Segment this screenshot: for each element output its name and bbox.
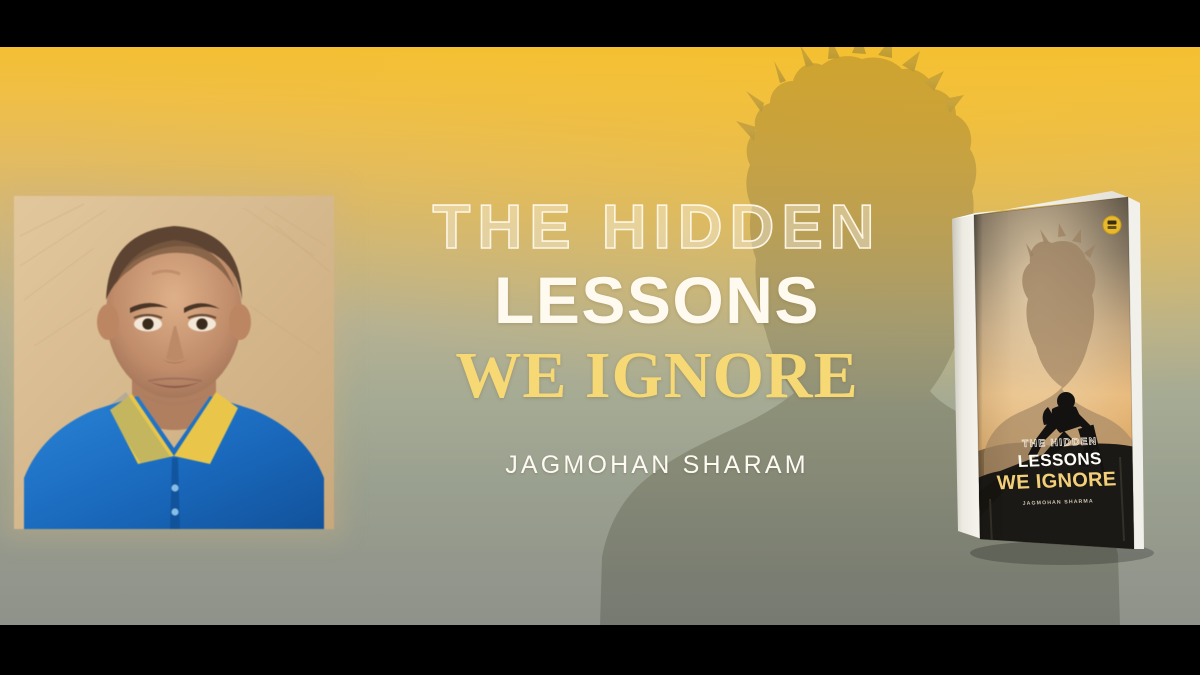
letterbox-bar-bottom (0, 625, 1200, 675)
book-3d-mockup: THE HIDDEN LESSONS WE IGNORE JAGMOHAN SH… (944, 157, 1164, 557)
title-line-the-hidden: THE HIDDEN (392, 197, 922, 259)
author-photo (14, 196, 334, 529)
author-name: JAGMOHAN SHARAM (392, 453, 922, 478)
title-line-we-ignore: WE IGNORE (392, 343, 922, 409)
artwork-area: THE HIDDEN LESSONS WE IGNORE JAGMOHAN SH… (0, 47, 1200, 625)
poster-canvas: THE HIDDEN LESSONS WE IGNORE JAGMOHAN SH… (0, 0, 1200, 675)
author-photo-image (14, 196, 334, 529)
title-line-lessons: LESSONS (392, 267, 922, 333)
headline-block: THE HIDDEN LESSONS WE IGNORE JAGMOHAN SH… (392, 197, 922, 478)
letterbox-bar-top (0, 0, 1200, 47)
publisher-badge-icon (1103, 216, 1121, 234)
